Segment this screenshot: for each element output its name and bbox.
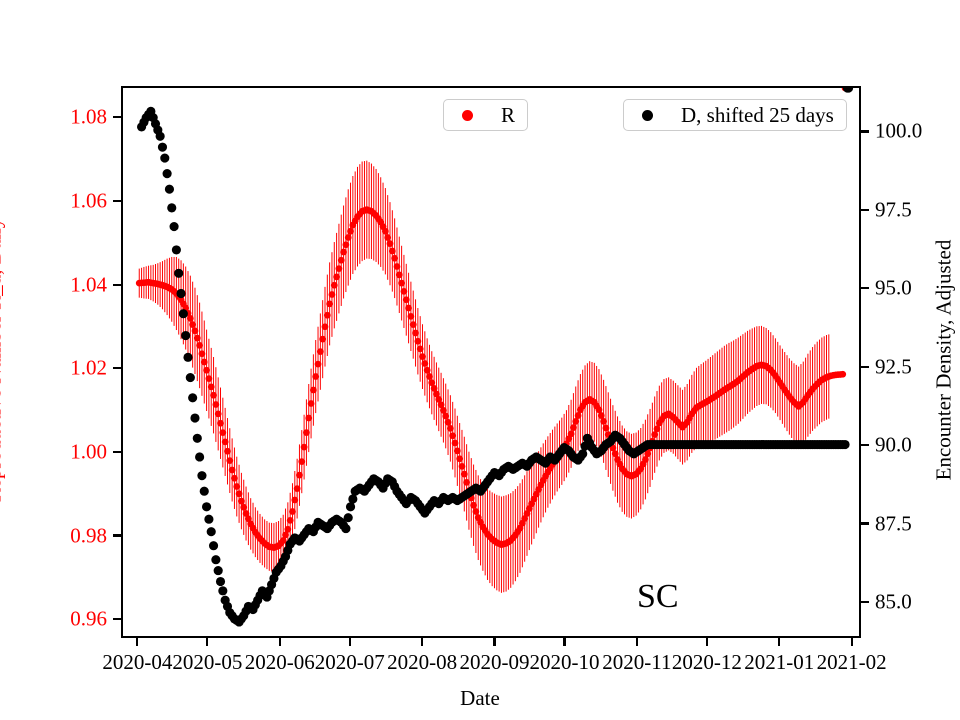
y-tick-label-left: 0.98 bbox=[70, 525, 107, 546]
x-tick-mark bbox=[136, 638, 138, 646]
y-tick-mark-right bbox=[861, 287, 869, 289]
y-tick-mark-left bbox=[113, 116, 121, 118]
y-tick-mark-left bbox=[113, 284, 121, 286]
y-tick-mark-right bbox=[861, 522, 869, 524]
x-tick-label: 2020-07 bbox=[315, 652, 385, 673]
y-tick-mark-left bbox=[113, 534, 121, 536]
y-axis-left-title: Reproductive Number R_d, Daily bbox=[0, 218, 7, 503]
y-tick-label-left: 1.06 bbox=[70, 191, 107, 212]
y-tick-mark-left bbox=[113, 451, 121, 453]
y-tick-label-left: 1.04 bbox=[70, 274, 107, 295]
x-tick-mark bbox=[706, 638, 708, 646]
x-tick-mark bbox=[206, 638, 208, 646]
y-tick-mark-left bbox=[113, 618, 121, 620]
y-tick-mark-right bbox=[861, 130, 869, 132]
y-tick-label-left: 1.08 bbox=[70, 107, 107, 128]
y-tick-mark-left bbox=[113, 200, 121, 202]
series-canvas bbox=[123, 88, 859, 636]
x-tick-label: 2020-06 bbox=[245, 652, 315, 673]
y-tick-mark-right bbox=[861, 209, 869, 211]
chart-figure: Reproductive Number R_d, Daily Encounter… bbox=[0, 0, 960, 720]
x-axis-title: Date bbox=[460, 686, 500, 711]
x-tick-mark bbox=[636, 638, 638, 646]
legend-label-d: D, shifted 25 days bbox=[681, 103, 834, 128]
legend-marker-dot-red bbox=[462, 110, 473, 121]
x-tick-mark bbox=[778, 638, 780, 646]
x-tick-mark bbox=[279, 638, 281, 646]
y-tick-mark-right bbox=[861, 366, 869, 368]
x-tick-label: 2020-11 bbox=[602, 652, 671, 673]
legend-entry-r[interactable]: R bbox=[443, 99, 528, 131]
legend-label-r: R bbox=[501, 103, 515, 128]
x-tick-mark bbox=[851, 638, 853, 646]
x-tick-label: 2020-10 bbox=[530, 652, 600, 673]
x-tick-label: 2021-01 bbox=[744, 652, 814, 673]
y-axis-right-title: Encounter Density, Adjusted bbox=[932, 240, 957, 481]
y-tick-mark-left bbox=[113, 367, 121, 369]
state-annotation: SC bbox=[637, 578, 679, 616]
x-tick-label: 2020-05 bbox=[172, 652, 242, 673]
y-tick-label-right: 97.5 bbox=[875, 199, 912, 220]
x-tick-label: 2021-02 bbox=[817, 652, 887, 673]
y-tick-label-left: 1.00 bbox=[70, 441, 107, 462]
x-tick-mark bbox=[349, 638, 351, 646]
y-tick-mark-right bbox=[861, 444, 869, 446]
y-tick-label-left: 1.02 bbox=[70, 358, 107, 379]
x-tick-mark bbox=[493, 638, 495, 646]
y-tick-label-right: 90.0 bbox=[875, 435, 912, 456]
x-tick-label: 2020-09 bbox=[460, 652, 530, 673]
legend-entry-d[interactable]: D, shifted 25 days bbox=[623, 99, 847, 131]
y-tick-label-right: 87.5 bbox=[875, 513, 912, 534]
y-tick-label-right: 85.0 bbox=[875, 591, 912, 612]
y-tick-mark-right bbox=[861, 601, 869, 603]
y-tick-label-left: 0.96 bbox=[70, 609, 107, 630]
legend-marker-dot-black bbox=[642, 110, 653, 121]
y-tick-label-right: 100.0 bbox=[875, 121, 922, 142]
x-tick-mark bbox=[563, 638, 565, 646]
plot-area bbox=[121, 86, 861, 638]
x-tick-label: 2020-08 bbox=[387, 652, 457, 673]
y-tick-label-right: 92.5 bbox=[875, 356, 912, 377]
x-tick-mark bbox=[421, 638, 423, 646]
x-tick-label: 2020-12 bbox=[672, 652, 742, 673]
x-tick-label: 2020-04 bbox=[102, 652, 172, 673]
y-tick-label-right: 95.0 bbox=[875, 278, 912, 299]
